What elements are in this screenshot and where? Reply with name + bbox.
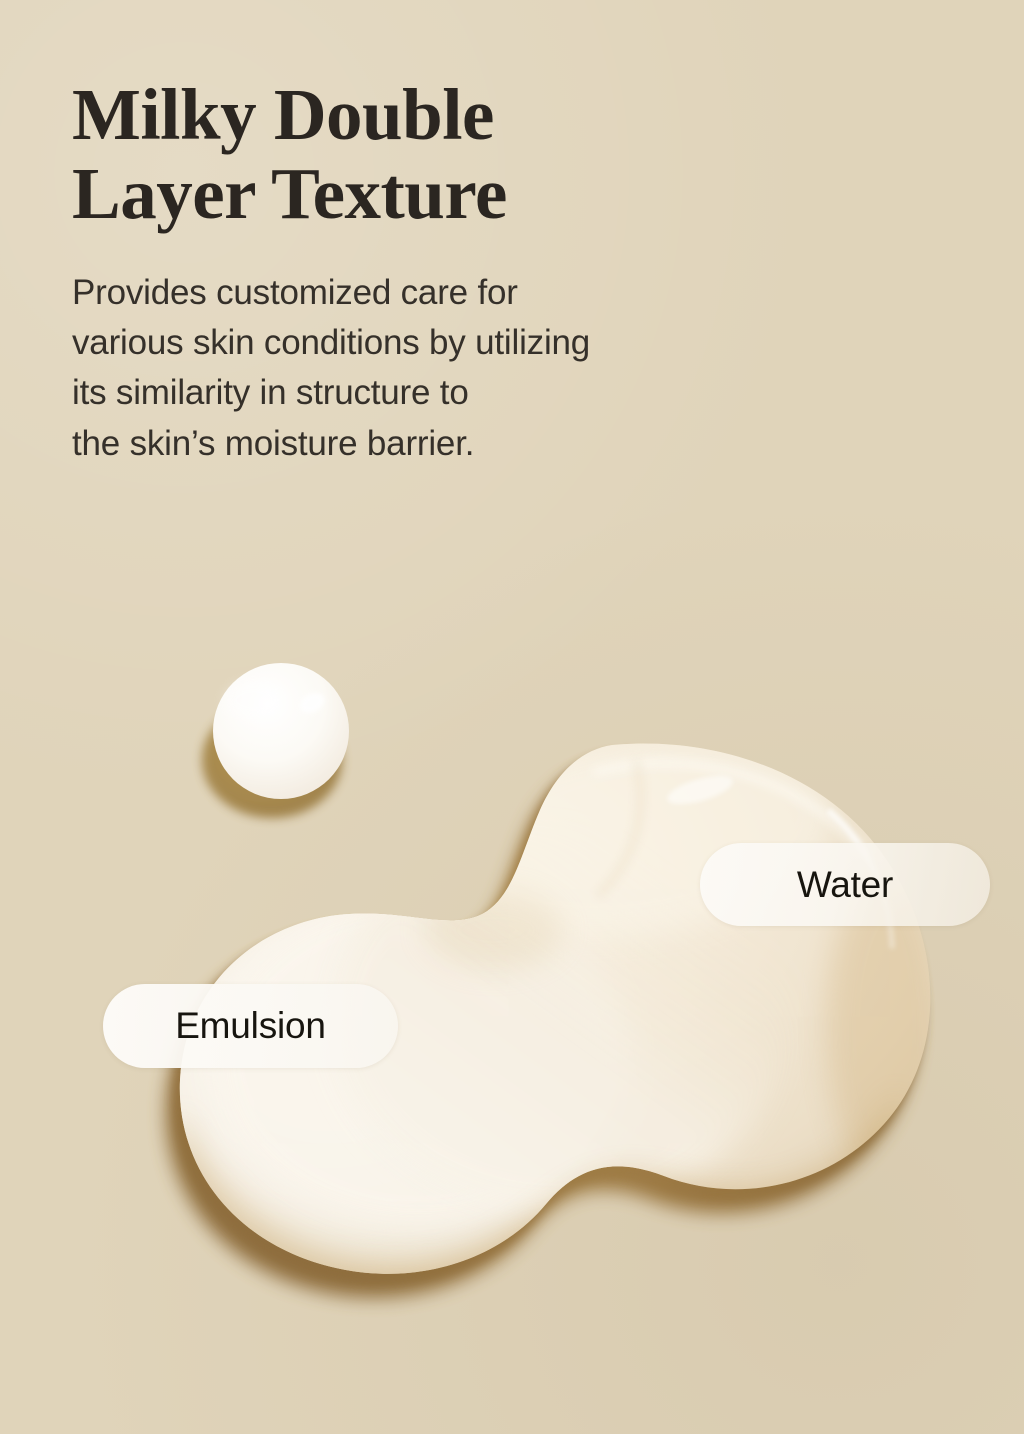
label-emulsion: Emulsion <box>103 984 398 1068</box>
page-title: Milky Double Layer Texture <box>72 76 862 234</box>
label-emulsion-text: Emulsion <box>175 1005 326 1047</box>
page-description: Provides customized care for various ski… <box>72 268 862 470</box>
small-droplet-group <box>202 663 349 818</box>
copy-block: Milky Double Layer Texture Provides cust… <box>72 76 862 469</box>
label-water-text: Water <box>797 864 893 906</box>
label-water: Water <box>700 843 990 926</box>
